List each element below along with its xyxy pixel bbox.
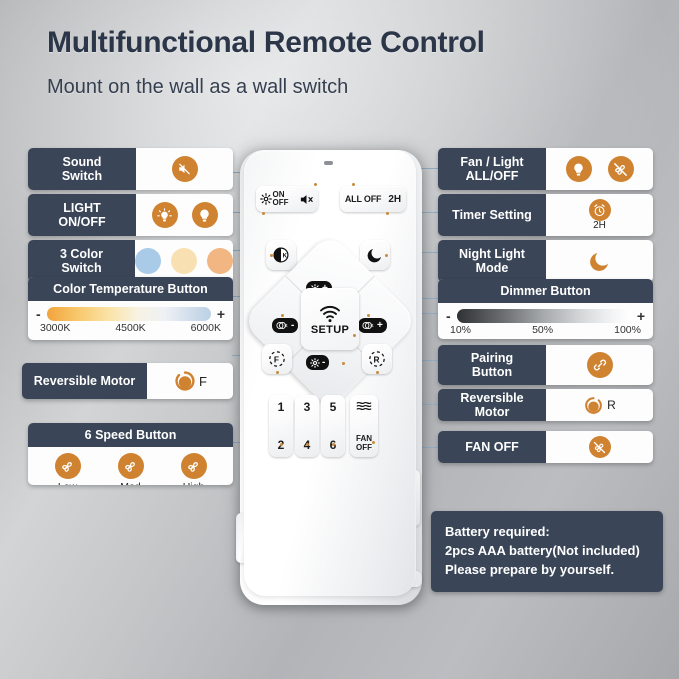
- ct-tick-3: 6000K: [191, 322, 221, 334]
- timer-2h-label: 2H: [593, 221, 606, 231]
- dimmer-tick-2: 50%: [532, 324, 553, 336]
- color-temperature-title: Color Temperature Button: [28, 277, 233, 301]
- speed-title: 6 Speed Button: [28, 423, 233, 447]
- dimmer-tick-1: 10%: [450, 324, 471, 336]
- alarm-clock-icon: [589, 199, 611, 221]
- callout-fan-off: FAN OFF: [438, 431, 653, 463]
- remote-fanoff-line2: OFF: [356, 444, 372, 452]
- bulb-off-icon: [192, 202, 218, 228]
- callout-color-temperature: Color Temperature Button - + 3000K 4500K…: [28, 277, 233, 340]
- speed-label-low: Low: [58, 481, 77, 485]
- battery-note-line1: Battery required:: [445, 523, 649, 542]
- pairing-line1: Pairing: [471, 351, 513, 365]
- ct-plus-label: +: [217, 307, 225, 321]
- dimmer-minus-label: -: [446, 309, 451, 323]
- remote-setup-label: SETUP: [311, 324, 349, 336]
- reversible-motor-f-suffix: F: [199, 374, 207, 389]
- fan-icon: [118, 453, 144, 479]
- dimmer-bar: [457, 309, 631, 323]
- callout-fan-light-all-off: Fan / Light ALL/OFF: [438, 148, 653, 190]
- pairing-line2: Button: [472, 365, 512, 379]
- remote-color-temp-up-button[interactable]: K +: [358, 318, 387, 333]
- page-title: Multifunctional Remote Control: [47, 26, 485, 60]
- sun-icon: [260, 193, 272, 205]
- callout-6-speed-button: 6 Speed Button Low Med: [28, 423, 233, 485]
- remote-light-onoff-button[interactable]: ON OFF: [256, 186, 318, 212]
- page-subtitle: Mount on the wall as a wall switch: [47, 76, 348, 99]
- rotate-reverse-icon: R: [367, 349, 387, 369]
- reversible-motor-r-suffix: R: [607, 398, 616, 412]
- color-temperature-bar: [47, 307, 211, 321]
- link-chain-icon: [587, 352, 613, 378]
- moon-star-icon: [588, 249, 612, 273]
- callout-sound-switch: Sound Switch: [28, 148, 233, 190]
- ir-led-icon: [324, 161, 333, 165]
- fan-icon: [55, 453, 81, 479]
- ct-tick-1: 3000K: [40, 322, 70, 334]
- callout-light-onoff: LIGHT ON/OFF: [28, 194, 233, 236]
- callout-dimmer-button: Dimmer Button - + 10% 50% 100%: [438, 279, 653, 339]
- remote-light-off-label: OFF: [273, 199, 289, 207]
- remote-brightness-down-button[interactable]: -: [306, 355, 329, 370]
- remote-fan-off-button[interactable]: FAN OFF: [350, 395, 378, 457]
- fan-off-icon: [608, 156, 634, 182]
- speed-label-med: Med: [120, 481, 140, 485]
- wave-icon: [355, 400, 373, 412]
- wifi-signal-icon: [317, 303, 343, 323]
- svg-text:K: K: [284, 323, 288, 328]
- remote-brightness-down-label: -: [322, 357, 325, 368]
- svg-text:K: K: [283, 254, 288, 260]
- timer-setting-label: Timer Setting: [452, 208, 532, 222]
- remote-reverse-button[interactable]: R: [362, 344, 392, 374]
- remote-speed-rocker-3[interactable]: 5 6: [321, 395, 345, 457]
- remote-color-switch-button[interactable]: K: [266, 240, 296, 270]
- three-color-line1: 3 Color: [60, 247, 103, 261]
- dimmer-plus-label: +: [637, 309, 645, 323]
- fan-icon: [181, 453, 207, 479]
- sound-switch-line2: Switch: [62, 169, 102, 183]
- speed-rocker-top: 1: [278, 400, 285, 414]
- remote-alloff-2h-button[interactable]: ALL OFF 2H: [340, 186, 406, 212]
- reversible-motor-r-label: Reversible Motor: [442, 391, 542, 420]
- battery-note-line3: Please prepare by yourself.: [445, 561, 649, 580]
- bulb-off-icon: [566, 156, 592, 182]
- moon-star-icon: [366, 246, 384, 264]
- color-swatch-warm: [207, 248, 233, 274]
- callout-reversible-motor-r: Reversible Motor R: [438, 389, 653, 421]
- callout-pairing-button: Pairing Button: [438, 345, 653, 385]
- speed-item-high: High: [181, 453, 207, 485]
- battery-note: Battery required: 2pcs AAA battery(Not i…: [431, 511, 663, 592]
- svg-text:K: K: [370, 323, 374, 328]
- callout-reversible-motor-f: Reversible Motor F: [22, 363, 233, 399]
- night-light-line1: Night Light: [459, 247, 525, 261]
- fan-light-line2: ALL/OFF: [466, 169, 519, 183]
- svg-text:R: R: [374, 354, 380, 364]
- rotate-forward-icon: F: [267, 349, 287, 369]
- color-swatch-neutral: [171, 248, 197, 274]
- rotate-forward-icon: [173, 369, 197, 393]
- dimmer-title: Dimmer Button: [438, 279, 653, 303]
- remote-color-temp-down-button[interactable]: K -: [272, 318, 298, 333]
- remote-speed-rocker-1[interactable]: 1 2: [269, 395, 293, 457]
- ct-minus-label: -: [36, 307, 41, 321]
- speed-rocker-top: 5: [330, 400, 337, 414]
- speed-item-med: Med: [118, 453, 144, 485]
- fan-light-line1: Fan / Light: [460, 155, 523, 169]
- three-color-line2: Switch: [61, 261, 101, 275]
- mute-speaker-icon: [298, 192, 315, 207]
- callout-timer-setting: Timer Setting 2H: [438, 194, 653, 236]
- speed-label-high: High: [183, 481, 205, 485]
- remote-speed-rocker-2[interactable]: 3 4: [295, 395, 319, 457]
- remote-ct-down-label: -: [291, 320, 294, 331]
- callout-night-light-mode: Night Light Mode: [438, 240, 653, 282]
- remote-forward-button[interactable]: F: [262, 344, 292, 374]
- speed-item-low: Low: [55, 453, 81, 485]
- callout-3-color-switch: 3 Color Switch: [28, 240, 233, 282]
- half-circle-k-icon: K: [272, 246, 290, 264]
- color-swatch-cool: [135, 248, 161, 274]
- reversible-motor-f-label: Reversible Motor: [34, 374, 135, 388]
- speed-rocker-top: 3: [304, 400, 311, 414]
- mute-speaker-icon: [172, 156, 198, 182]
- night-light-line2: Mode: [476, 261, 509, 275]
- ct-tick-2: 4500K: [115, 322, 145, 334]
- bulb-on-icon: [152, 202, 178, 228]
- sound-switch-line1: Sound: [63, 155, 102, 169]
- remote-all-off-label: ALL OFF: [345, 194, 381, 204]
- remote-2h-label: 2H: [388, 194, 401, 205]
- remote-setup-button[interactable]: SETUP: [301, 288, 359, 350]
- battery-note-line2: 2pcs AAA battery(Not included): [445, 542, 649, 561]
- light-onoff-line2: ON/OFF: [58, 215, 105, 229]
- light-onoff-line1: LIGHT: [63, 201, 101, 215]
- fan-off-icon: [589, 436, 611, 458]
- rotate-reverse-icon: [583, 395, 604, 416]
- svg-text:F: F: [274, 354, 279, 364]
- remote-ct-up-label: +: [377, 320, 383, 331]
- fan-off-label: FAN OFF: [465, 440, 518, 454]
- poster-stage: Multifunctional Remote Control Mount on …: [0, 0, 679, 679]
- dimmer-tick-3: 100%: [614, 324, 641, 336]
